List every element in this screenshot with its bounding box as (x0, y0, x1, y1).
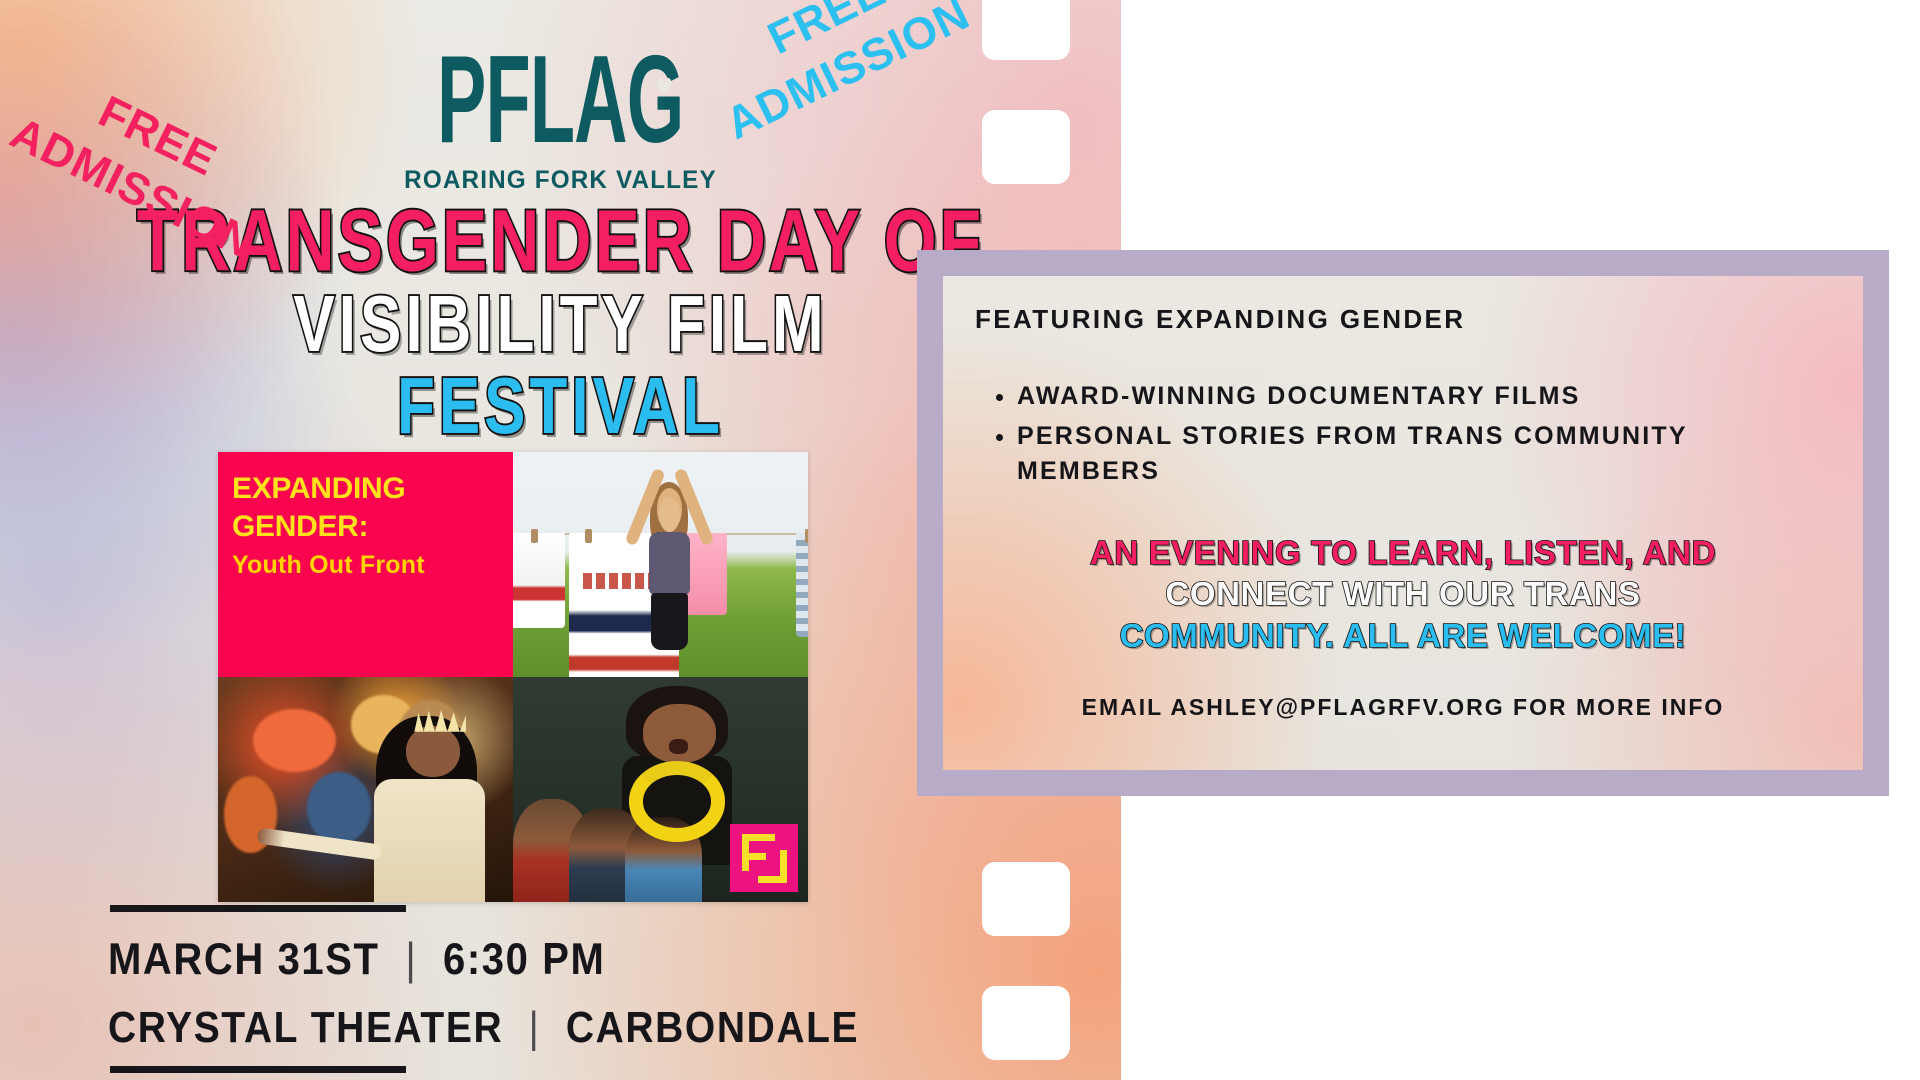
garment (796, 533, 808, 637)
sprocket-hole (982, 986, 1070, 1060)
event-venue-city: CRYSTAL THEATER | CARBONDALE (108, 1004, 859, 1053)
card-bullet-list: AWARD-WINNING DOCUMENTARY FILMS PERSONAL… (991, 379, 1831, 490)
heart-icon (660, 78, 671, 95)
event-date-time: MARCH 31ST | 6:30 PM (108, 935, 605, 985)
divider-rule-top (110, 905, 406, 912)
fj-letter-j-icon (758, 850, 787, 883)
card-heading: FEATURING EXPANDING GENDER (975, 304, 1831, 335)
collage-tile-expanding-gender-poster: EXPANDING GENDER: Youth Out Front (218, 452, 513, 677)
event-city: CARBONDALE (566, 1004, 859, 1052)
email-cta[interactable]: EMAIL ASHLEY@PFLAGRFV.ORG FOR MORE INFO (975, 694, 1831, 721)
face (406, 726, 460, 777)
mural-shape (307, 772, 372, 844)
clothes-peg (531, 529, 538, 543)
garment (513, 533, 565, 628)
face (643, 704, 716, 764)
torso (649, 532, 689, 595)
divider-rule-bottom (110, 1066, 406, 1073)
poster-canvas: PFLAG ROARING FORK VALLEY FREE ADMISSION… (0, 0, 1920, 1080)
poster-title-line1: EXPANDING (232, 470, 497, 508)
info-card-inner: FEATURING EXPANDING GENDER AWARD-WINNING… (943, 276, 1863, 770)
detail-divider: | (529, 1004, 541, 1053)
face (659, 497, 680, 531)
open-mouth (669, 739, 688, 755)
poster-subtitle: Youth Out Front (232, 551, 497, 580)
collage-tile-singers-photo (513, 677, 808, 902)
film-collage: EXPANDING GENDER: Youth Out Front (218, 452, 808, 902)
collage-tile-mural-photo (218, 677, 513, 902)
list-item: PERSONAL STORIES FROM TRANS COMMUNITY ME… (1017, 419, 1831, 490)
photo-subject-woman-with-tiara (366, 704, 502, 902)
event-venue: CRYSTAL THEATER (108, 1004, 503, 1052)
mural-shape (253, 709, 336, 772)
clothes-peg (805, 529, 808, 543)
event-time: 6:30 PM (443, 935, 605, 984)
skirt (651, 593, 688, 650)
flower-lei (629, 761, 726, 842)
poster-title-line2: GENDER: (232, 508, 497, 546)
clothes-peg (585, 529, 592, 543)
sprocket-hole (982, 862, 1070, 936)
event-date: MARCH 31ST (108, 935, 380, 984)
detail-divider: | (405, 935, 417, 985)
info-card: FEATURING EXPANDING GENDER AWARD-WINNING… (917, 250, 1889, 796)
pflag-logo-text: PFLAG (437, 30, 683, 169)
collage-tile-clothesline-photo (513, 452, 808, 677)
tagline-line-2: CONNECT WITH OUR TRANS (975, 573, 1831, 615)
pflag-logo-wordmark: PFLAG (437, 42, 683, 160)
tagline-line-3: COMMUNITY. ALL ARE WELCOME! (975, 615, 1831, 657)
card-tagline: AN EVENING TO LEARN, LISTEN, AND CONNECT… (975, 532, 1831, 657)
photo-subject-girl (643, 475, 696, 666)
tagline-line-1: AN EVENING TO LEARN, LISTEN, AND (975, 532, 1831, 574)
list-item: AWARD-WINNING DOCUMENTARY FILMS (1017, 379, 1831, 415)
fj-logo-badge (730, 824, 798, 892)
torso (374, 779, 485, 902)
